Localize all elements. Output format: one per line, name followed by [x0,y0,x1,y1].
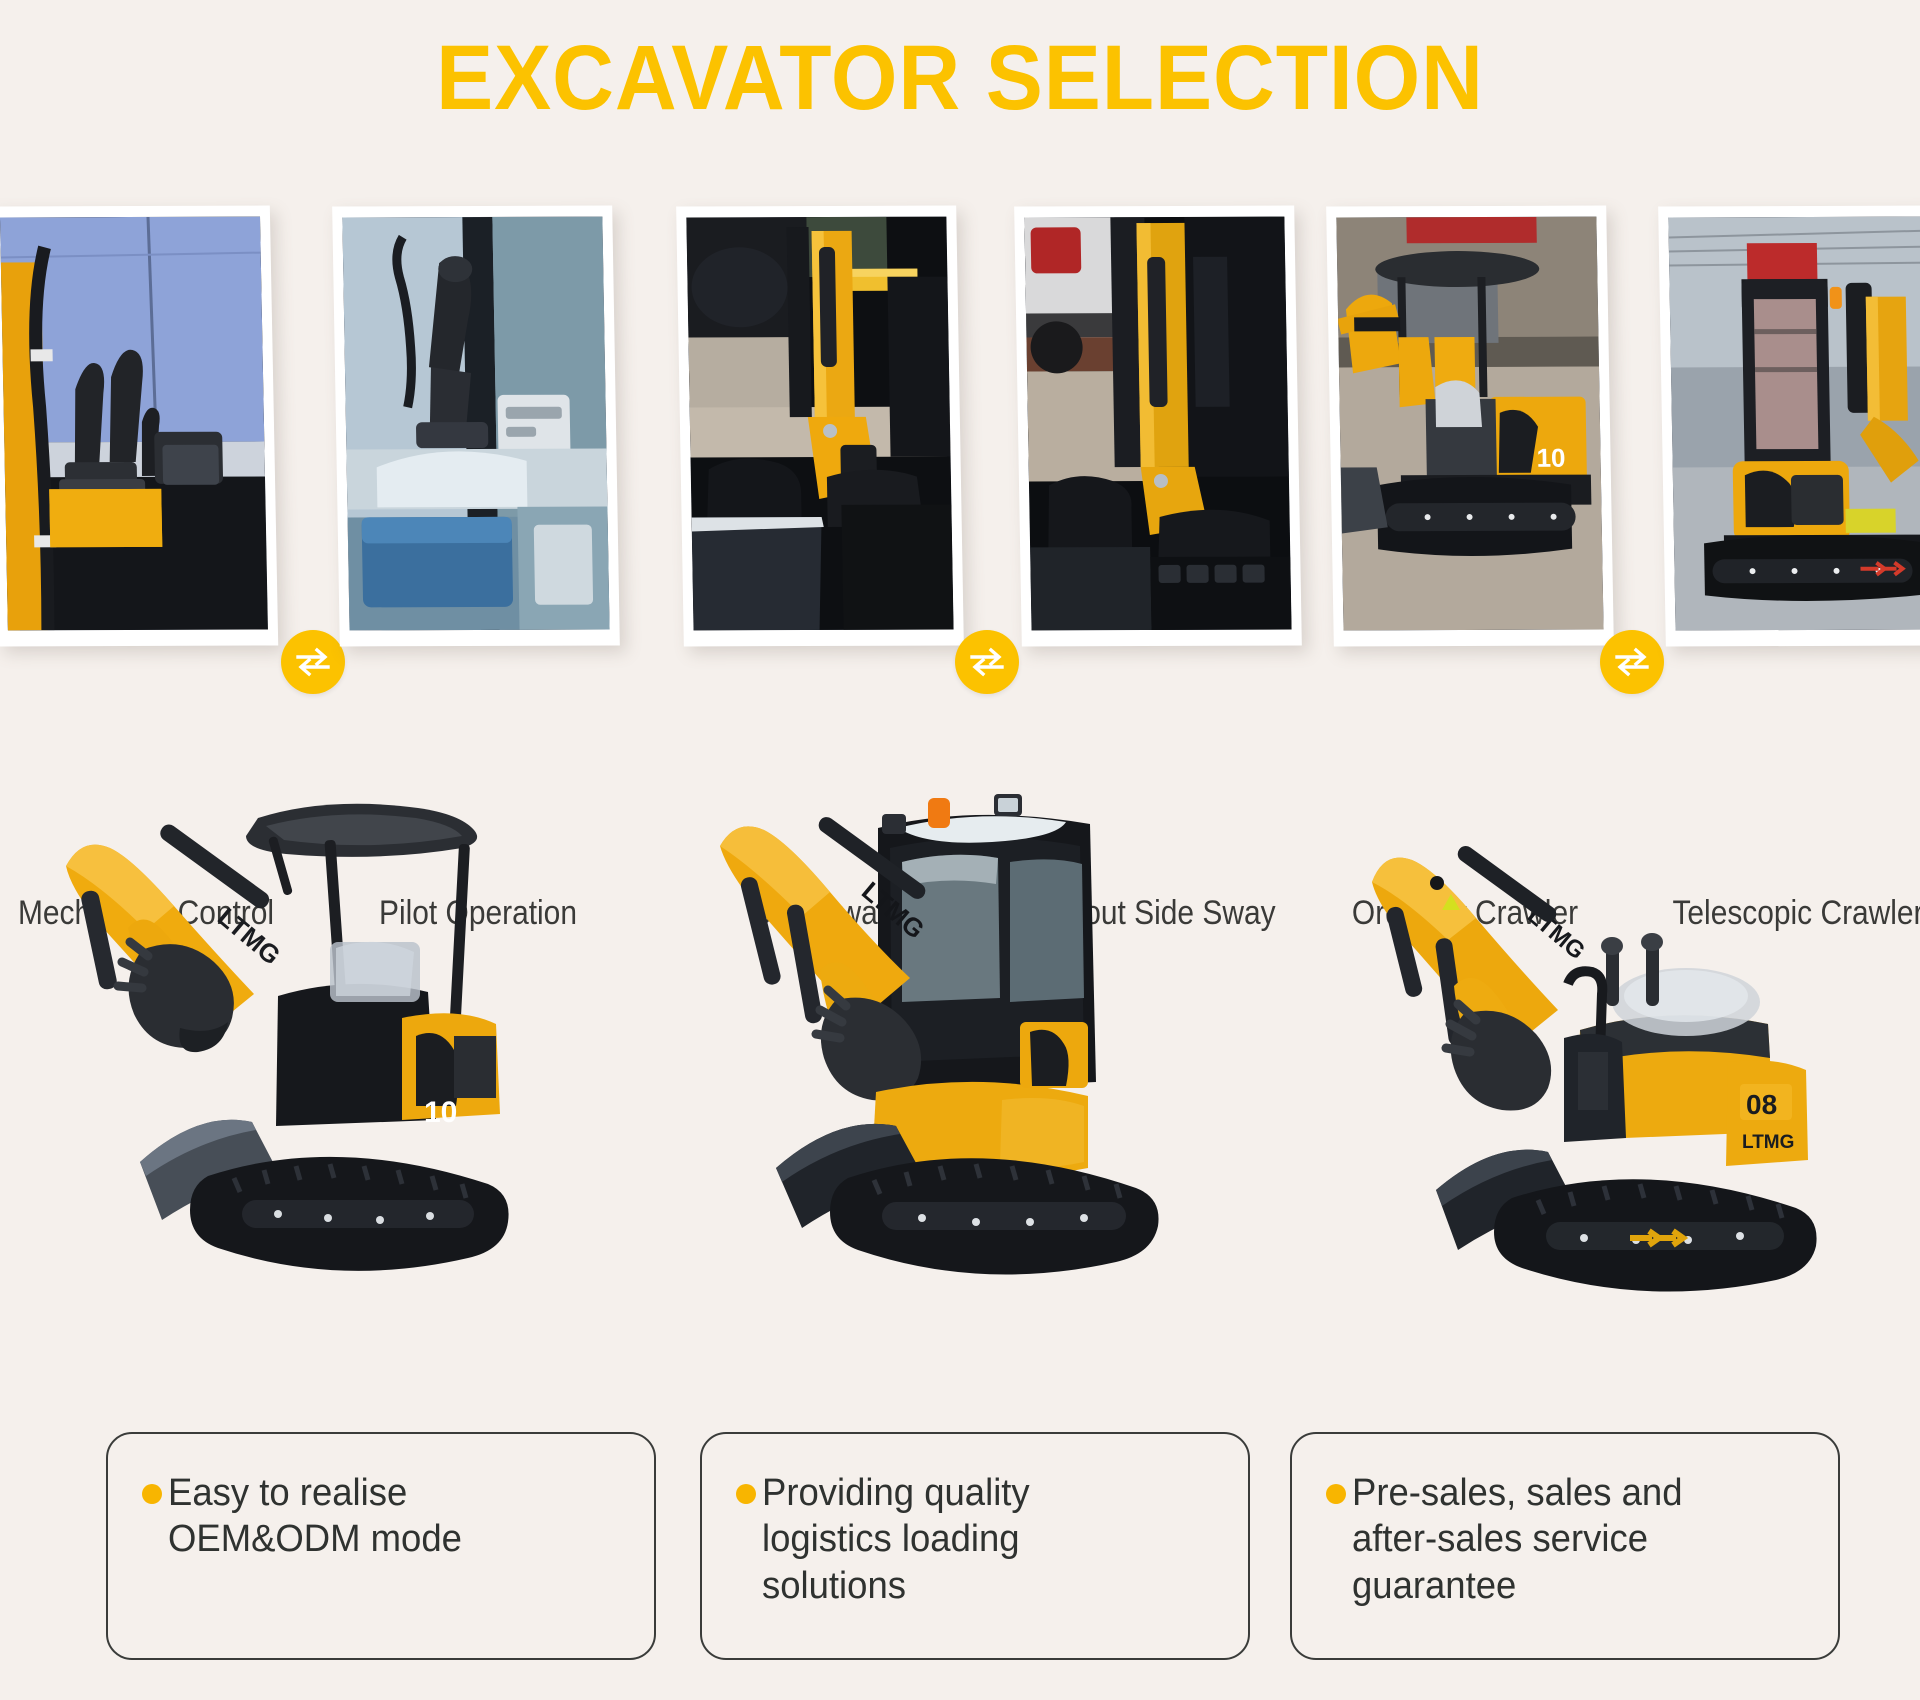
swap-badge-sway[interactable] [955,630,1019,694]
feature-box-oem-odm: Easy to realise OEM&ODM mode [106,1432,656,1660]
model-number-10: 10 [424,1096,457,1129]
photo-telescopic-crawler [1668,217,1920,631]
option-thumb-ordinary-crawler[interactable]: 10 [1326,206,1614,647]
feature-box-logistics: Providing quality logistics loading solu… [700,1432,1250,1660]
svg-text:10: 10 [1536,443,1565,473]
feature-text-service: Pre-sales, sales and after-sales service… [1352,1470,1683,1609]
swap-badge-crawler[interactable] [1600,630,1664,694]
product-row: LTMG 10 [0,770,1920,1330]
option-thumb-mechanical-control[interactable] [0,206,278,647]
photo-mechanical-control [0,217,268,631]
cab-excavator-art: LTMG [690,770,1210,1310]
canopy-excavator-art: LTMG 10 [30,770,550,1310]
swap-arrows-icon [293,642,333,682]
photo-pilot-operation [342,217,609,631]
swap-arrows-icon [967,642,1007,682]
product-image-cab[interactable]: LTMG [690,770,1210,1310]
infographic-page: EXCAVATOR SELECTION [0,0,1920,1700]
svg-text:LTMG: LTMG [1742,1132,1794,1153]
bullet-dot-icon [736,1484,756,1504]
option-thumbnail-row: 10 [0,206,1920,696]
page-title: EXCAVATOR SELECTION [67,26,1853,131]
option-thumb-pilot-operation[interactable] [332,206,620,647]
option-thumb-side-sway[interactable] [676,206,964,647]
bullet-dot-icon [1326,1484,1346,1504]
swap-arrows-icon [1612,642,1652,682]
svg-text:LTMG: LTMG [212,902,286,971]
product-image-canopy[interactable]: LTMG 10 [30,770,550,1310]
feature-box-service: Pre-sales, sales and after-sales service… [1290,1432,1840,1660]
feature-text-oem-odm: Easy to realise OEM&ODM mode [168,1470,462,1563]
photo-ordinary-crawler: 10 [1336,217,1603,631]
option-thumb-telescopic-crawler[interactable] [1658,206,1920,647]
photo-side-sway [686,217,953,631]
product-image-without-canopy[interactable]: LTMG [1330,770,1850,1310]
bullet-dot-icon [142,1484,162,1504]
feature-box-row: Easy to realise OEM&ODM mode Providing q… [0,1432,1920,1672]
feature-text-logistics: Providing quality logistics loading solu… [762,1470,1030,1609]
without-canopy-excavator-art: LTMG [1330,770,1850,1310]
model-number-08: 08 [1746,1089,1777,1120]
photo-without-side-sway [1024,217,1291,631]
swap-badge-control[interactable] [281,630,345,694]
option-thumb-without-side-sway[interactable] [1014,206,1302,647]
